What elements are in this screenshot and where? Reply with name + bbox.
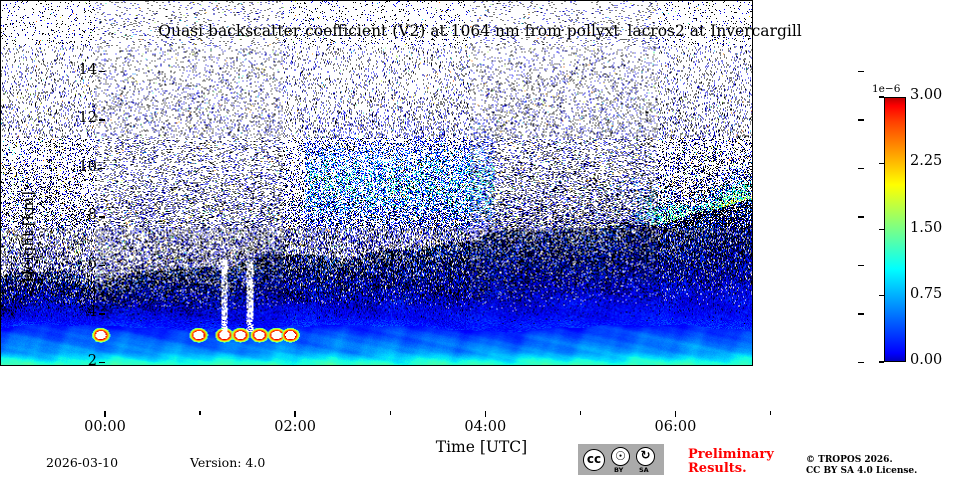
y-tick-mark	[858, 71, 864, 72]
cc-mark-label: cc	[583, 452, 605, 466]
x-tick-mark	[294, 411, 295, 417]
plot-axes	[0, 0, 753, 366]
y-tick-mark	[858, 119, 864, 120]
x-tick-label: 02:00	[255, 419, 335, 435]
preliminary-line-2: Results.	[688, 462, 774, 476]
y-tick-mark	[858, 313, 864, 314]
colorbar-tick-mark	[879, 163, 884, 164]
y-tick-label: 14	[9, 62, 97, 78]
y-tick-mark	[858, 168, 864, 169]
y-tick-mark	[99, 119, 105, 120]
lidar-heatmap-canvas	[1, 1, 752, 365]
y-tick-mark	[99, 71, 105, 72]
colorbar-tick-mark	[879, 229, 884, 230]
x-minor-tick-mark	[770, 411, 771, 415]
x-tick-label: 04:00	[445, 419, 525, 435]
y-tick-mark	[99, 362, 105, 363]
colorbar	[884, 97, 906, 362]
y-tick-mark	[99, 265, 105, 266]
lidar-quicklook-figure: Quasi backscatter coefficient (V2) at 10…	[0, 0, 960, 480]
preliminary-line-1: Preliminary	[688, 448, 774, 462]
colorbar-tick-mark	[879, 96, 884, 97]
x-tick-mark	[675, 411, 676, 417]
colorbar-tick-mark	[879, 295, 884, 296]
x-tick-mark	[104, 411, 105, 417]
y-tick-label: 12	[9, 110, 97, 126]
cc-sa-label: SA	[639, 466, 649, 474]
y-tick-mark	[99, 313, 105, 314]
y-tick-mark	[858, 216, 864, 217]
y-tick-mark	[99, 168, 105, 169]
y-axis-label: Height [km]	[19, 137, 37, 337]
y-tick-mark	[858, 265, 864, 266]
x-minor-tick-mark	[390, 411, 391, 415]
y-tick-mark	[858, 362, 864, 363]
cc-by-glyph: ☉	[611, 449, 630, 463]
x-tick-label: 00:00	[65, 419, 145, 435]
page-title: Quasi backscatter coefficient (V2) at 10…	[0, 22, 960, 40]
cc-sa-glyph: ↻	[636, 448, 655, 462]
cc-by-label: BY	[614, 466, 623, 474]
colorbar-tick-label: 2.25	[910, 153, 942, 169]
x-tick-mark	[485, 411, 486, 417]
colorbar-offset-label: 1e−6	[872, 83, 900, 95]
colorbar-tick-label: 0.75	[910, 286, 942, 302]
y-tick-label: 2	[9, 353, 97, 369]
x-tick-label: 06:00	[635, 419, 715, 435]
x-minor-tick-mark	[580, 411, 581, 415]
colorbar-tick-label: 1.50	[910, 220, 942, 236]
colorbar-tick-label: 3.00	[910, 87, 942, 103]
copyright-note: © TROPOS 2026. CC BY SA 4.0 License.	[806, 455, 917, 477]
date-text: 2026-03-10	[46, 455, 118, 470]
version-text: Version: 4.0	[190, 455, 265, 470]
x-minor-tick-mark	[199, 411, 200, 415]
cc-license-badge[interactable]: cc ☉ BY ↻ SA	[578, 444, 664, 475]
copyright-line-2: CC BY SA 4.0 License.	[806, 466, 917, 477]
colorbar-tick-label: 0.00	[910, 352, 942, 368]
colorbar-tick-mark	[879, 361, 884, 362]
copyright-line-1: © TROPOS 2026.	[806, 455, 917, 466]
preliminary-results-note: Preliminary Results.	[688, 448, 774, 476]
y-tick-mark	[99, 216, 105, 217]
